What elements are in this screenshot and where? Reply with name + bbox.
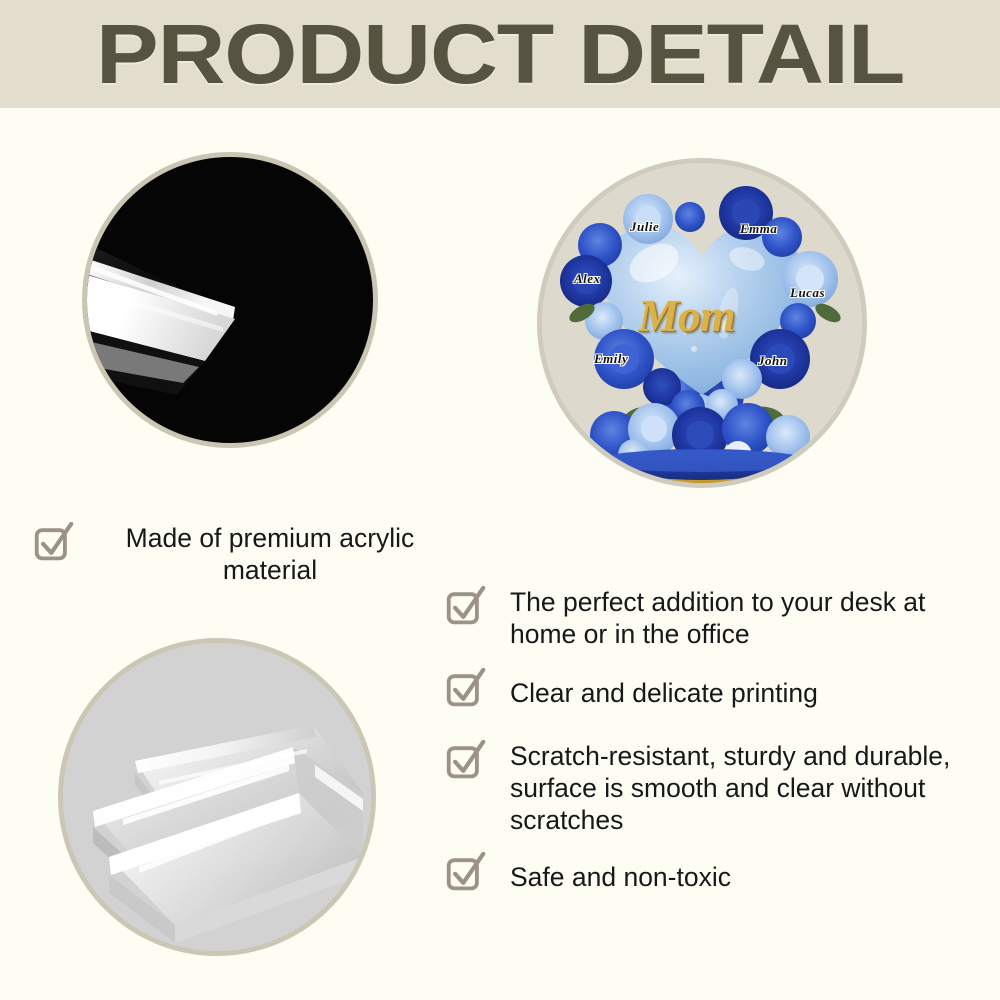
acrylic-edge-photo: Thickness 0.55 in bbox=[82, 152, 378, 448]
rose-name-lucas: Lucas bbox=[790, 285, 825, 301]
checkmark-icon bbox=[34, 522, 74, 562]
acrylic-sheets-photo bbox=[58, 638, 376, 956]
rose-name-alex: Alex bbox=[574, 271, 601, 287]
rose-name-emma: Emma bbox=[740, 221, 777, 237]
feature-text: Clear and delicate printing bbox=[510, 668, 980, 709]
feature-text: Safe and non-toxic bbox=[510, 852, 980, 893]
rose-name-emily: Emily bbox=[594, 351, 628, 367]
feature-text: Scratch-resistant, sturdy and durable, s… bbox=[510, 740, 980, 836]
feature-item-safe: Safe and non-toxic bbox=[446, 852, 991, 893]
thickness-label: Thickness 0.55 in bbox=[355, 439, 378, 448]
feature-text: The perfect addition to your desk at hom… bbox=[510, 586, 980, 650]
heart-scene: Mom Julie Emma Alex Lucas Emily John bbox=[542, 163, 862, 483]
feature-item-material: Made of premium acrylic material bbox=[34, 522, 454, 586]
checkmark-icon bbox=[446, 668, 486, 708]
acrylic-sheets-illustration bbox=[63, 643, 373, 953]
rose-name-julie: Julie bbox=[630, 219, 659, 235]
checkmark-icon bbox=[446, 852, 486, 892]
feature-text: Made of premium acrylic material bbox=[96, 522, 444, 586]
checkmark-icon bbox=[446, 740, 486, 780]
feature-item-printing: Clear and delicate printing bbox=[446, 668, 991, 709]
heart-center-word: Mom bbox=[638, 289, 735, 342]
rose-name-john: John bbox=[758, 353, 787, 369]
feature-item-scratch: Scratch-resistant, sturdy and durable, s… bbox=[446, 740, 991, 836]
product-detail-page: PRODUCT DETAIL bbox=[0, 0, 1000, 1000]
checkmark-icon bbox=[446, 586, 486, 626]
heart-product-photo: Mom Julie Emma Alex Lucas Emily John bbox=[537, 158, 867, 488]
thickness-label-line1: Thickness bbox=[355, 439, 378, 448]
page-title: PRODUCT DETAIL bbox=[0, 0, 1000, 108]
thickness-arrow-icon bbox=[327, 429, 349, 448]
acrylic-edge-illustration bbox=[82, 195, 357, 425]
feature-item-desk: The perfect addition to your desk at hom… bbox=[446, 586, 991, 650]
